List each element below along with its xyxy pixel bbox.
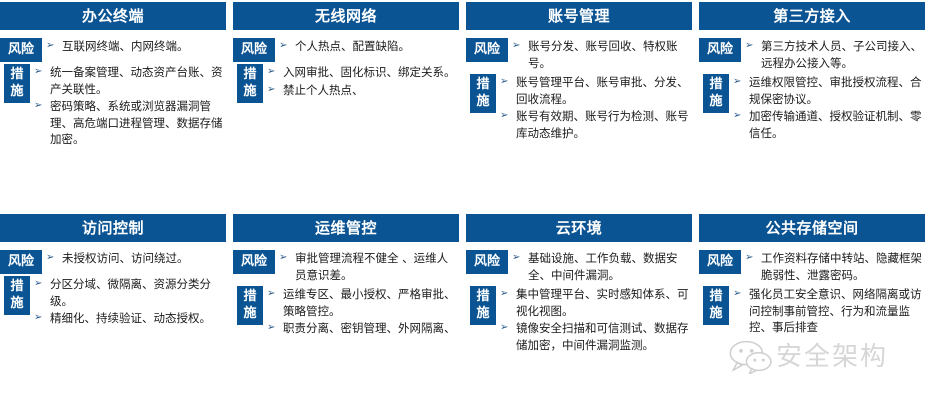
risk-badge: 风险	[0, 38, 42, 62]
measure-badge: 措 施	[237, 64, 263, 103]
measure-badge: 措 施	[703, 286, 729, 325]
list-item: ➢ 分区分域、微隔离、资源分类分级。	[34, 276, 226, 309]
arrow-bullet-icon: ➢	[500, 320, 516, 337]
card-body: 风险 ➢ 个人热点、配置缺陷。 措 施 ➢	[233, 30, 459, 198]
risk-bullet-list: ➢ 个人热点、配置缺陷。	[279, 38, 459, 56]
card-title: 访问控制	[0, 214, 226, 242]
measure-section: 措 施 ➢ 账号管理平台、账号审批、分发、回收流程。 ➢ 账号有效期、账号行为检…	[466, 74, 692, 142]
measure-bullet-list: ➢ 强化员工安全意识、网络隔离或访问控制事前管控、行为和流量监控、事后排查	[733, 286, 925, 337]
arrow-bullet-icon: ➢	[512, 38, 528, 55]
measure-section: 措 施 ➢ 运维专区、最小授权、严格审批、策略管控。 ➢ 职责分离、密钥管理、外…	[233, 286, 459, 338]
risk-badge: 风险	[466, 38, 508, 62]
arrow-bullet-icon: ➢	[500, 286, 516, 303]
risk-section: 风险 ➢ 工作资料存储中转站、隐藏框架脆弱性、泄露密码。	[699, 250, 925, 284]
risk-bullet-list: ➢ 工作资料存储中转站、隐藏框架脆弱性、泄露密码。	[745, 250, 925, 284]
list-item: ➢ 禁止个人热点、	[267, 82, 459, 99]
card-account-management: 账号管理 风险 ➢ 账号分发、账号回收、特权账号。 措 施	[466, 2, 692, 198]
arrow-bullet-icon: ➢	[733, 286, 749, 303]
arrow-bullet-icon: ➢	[34, 276, 50, 293]
measure-badge-line1: 措	[237, 66, 263, 83]
risk-badge: 风险	[466, 250, 508, 274]
measure-badge-line1: 措	[237, 288, 263, 305]
card-body: 风险 ➢ 未授权访问、访问绕过。 措 施 ➢	[0, 242, 226, 410]
risk-bullet-list: ➢ 审批管理流程不健全 、运维人员意识差。	[279, 250, 459, 284]
measure-badge: 措 施	[4, 276, 30, 315]
risk-badge: 风险	[233, 250, 275, 274]
measure-section: 措 施 ➢ 强化员工安全意识、网络隔离或访问控制事前管控、行为和流量监控、事后排…	[699, 286, 925, 337]
card-body: 风险 ➢ 审批管理流程不健全 、运维人员意识差。 措 施	[233, 242, 459, 410]
measure-badge-line2: 施	[4, 83, 30, 100]
risk-section: 风险 ➢ 互联网终端、内网终端。	[0, 38, 226, 62]
measure-section: 措 施 ➢ 运维权限管控、审批授权流程、合规保密协议。 ➢ 加密传输通道、授权验…	[699, 74, 925, 142]
measure-bullet-list: ➢ 运维专区、最小授权、严格审批、策略管控。 ➢ 职责分离、密钥管理、外网隔离、	[267, 286, 459, 338]
card-title: 办公终端	[0, 2, 226, 30]
card-body: 风险 ➢ 基础设施、工作负载、数据安全、中间件漏洞。 措 施	[466, 242, 692, 410]
measure-section: 措 施 ➢ 入网审批、固化标识、绑定关系。 ➢ 禁止个人热点、	[233, 64, 459, 103]
arrow-bullet-icon: ➢	[500, 74, 516, 91]
measure-badge-line1: 措	[470, 288, 496, 305]
measure-bullet-list: ➢ 统一备案管理、动态资产台账、资产关联性。 ➢ 密码策略、系统或浏览器漏洞管理…	[34, 64, 226, 149]
measure-badge: 措 施	[237, 286, 263, 325]
card-body: 风险 ➢ 账号分发、账号回收、特权账号。 措 施	[466, 30, 692, 198]
list-item: ➢ 加密传输通道、授权验证机制、零信任。	[733, 108, 925, 141]
measure-badge-line2: 施	[237, 305, 263, 322]
risk-section: 风险 ➢ 账号分发、账号回收、特权账号。	[466, 38, 692, 72]
card-third-party-access: 第三方接入 风险 ➢ 第三方技术人员、子公司接入、远程办公接入等。 措 施	[699, 2, 925, 198]
arrow-bullet-icon: ➢	[500, 108, 516, 125]
measure-badge-line2: 施	[470, 305, 496, 322]
measure-badge-line2: 施	[703, 93, 729, 110]
risk-badge: 风险	[233, 38, 275, 62]
arrow-bullet-icon: ➢	[745, 250, 761, 267]
measure-section: 措 施 ➢ 统一备案管理、动态资产台账、资产关联性。 ➢ 密码策略、系统或浏览器…	[0, 64, 226, 149]
list-item: ➢ 未授权访问、访问绕过。	[46, 250, 226, 267]
risk-badge: 风险	[699, 250, 741, 274]
risk-bullet-list: ➢ 账号分发、账号回收、特权账号。	[512, 38, 692, 72]
measure-badge-line2: 施	[470, 93, 496, 110]
arrow-bullet-icon: ➢	[267, 64, 283, 81]
list-item: ➢ 职责分离、密钥管理、外网隔离、	[267, 320, 459, 337]
list-item: ➢ 审批管理流程不健全 、运维人员意识差。	[279, 250, 459, 283]
arrow-bullet-icon: ➢	[46, 38, 62, 55]
arrow-bullet-icon: ➢	[267, 82, 283, 99]
list-item: ➢ 镜像安全扫描和可信测试、数据存储加密，中间件漏洞监测。	[500, 320, 692, 353]
card-access-control: 访问控制 风险 ➢ 未授权访问、访问绕过。 措 施	[0, 214, 226, 410]
list-item: ➢ 入网审批、固化标识、绑定关系。	[267, 64, 459, 81]
measure-badge: 措 施	[470, 74, 496, 113]
card-title: 运维管控	[233, 214, 459, 242]
list-item: ➢ 账号有效期、账号行为检测、账号库动态维护。	[500, 108, 692, 141]
list-item: ➢ 运维权限管控、审批授权流程、合规保密协议。	[733, 74, 925, 107]
card-public-storage: 公共存储空间 风险 ➢ 工作资料存储中转站、隐藏框架脆弱性、泄露密码。 措 施	[699, 214, 925, 410]
measure-bullet-list: ➢ 分区分域、微隔离、资源分类分级。 ➢ 精细化、持续验证、动态授权。	[34, 276, 226, 328]
measure-bullet-list: ➢ 入网审批、固化标识、绑定关系。 ➢ 禁止个人热点、	[267, 64, 459, 99]
list-item: ➢ 账号分发、账号回收、特权账号。	[512, 38, 692, 71]
card-title: 账号管理	[466, 2, 692, 30]
card-cloud-environment: 云环境 风险 ➢ 基础设施、工作负载、数据安全、中间件漏洞。 措 施	[466, 214, 692, 410]
arrow-bullet-icon: ➢	[279, 250, 295, 267]
measure-badge-line1: 措	[470, 76, 496, 93]
risk-section: 风险 ➢ 个人热点、配置缺陷。	[233, 38, 459, 62]
list-item: ➢ 精细化、持续验证、动态授权。	[34, 310, 226, 327]
arrow-bullet-icon: ➢	[34, 98, 50, 115]
arrow-bullet-icon: ➢	[733, 74, 749, 91]
card-body: 风险 ➢ 工作资料存储中转站、隐藏框架脆弱性、泄露密码。 措 施	[699, 242, 925, 410]
measure-badge-line1: 措	[703, 76, 729, 93]
list-item: ➢ 个人热点、配置缺陷。	[279, 38, 459, 55]
risk-badge: 风险	[0, 250, 42, 274]
card-body: 风险 ➢ 互联网终端、内网终端。 措 施 ➢	[0, 30, 226, 198]
measure-badge-line1: 措	[4, 278, 30, 295]
list-item: ➢ 账号管理平台、账号审批、分发、回收流程。	[500, 74, 692, 107]
arrow-bullet-icon: ➢	[267, 320, 283, 337]
measure-bullet-list: ➢ 账号管理平台、账号审批、分发、回收流程。 ➢ 账号有效期、账号行为检测、账号…	[500, 74, 692, 142]
list-item: ➢ 密码策略、系统或浏览器漏洞管理、高危端口进程管理、数据存储加密。	[34, 98, 226, 148]
measure-section: 措 施 ➢ 分区分域、微隔离、资源分类分级。 ➢ 精细化、持续验证、动态授权。	[0, 276, 226, 328]
list-item: ➢ 第三方技术人员、子公司接入、远程办公接入等。	[745, 38, 925, 71]
arrow-bullet-icon: ➢	[733, 108, 749, 125]
list-item: ➢ 集中管理平台、实时感知体系、可视化视图。	[500, 286, 692, 319]
measure-badge: 措 施	[703, 74, 729, 113]
measure-badge-line1: 措	[703, 288, 729, 305]
card-operations-control: 运维管控 风险 ➢ 审批管理流程不健全 、运维人员意识差。 措 施	[233, 214, 459, 410]
card-row-bottom: 访问控制 风险 ➢ 未授权访问、访问绕过。 措 施	[0, 214, 930, 410]
measure-badge: 措 施	[4, 64, 30, 103]
arrow-bullet-icon: ➢	[34, 64, 50, 81]
list-item: ➢ 统一备案管理、动态资产台账、资产关联性。	[34, 64, 226, 97]
list-item: ➢ 基础设施、工作负载、数据安全、中间件漏洞。	[512, 250, 692, 283]
measure-section: 措 施 ➢ 集中管理平台、实时感知体系、可视化视图。 ➢ 镜像安全扫描和可信测试…	[466, 286, 692, 354]
risk-section: 风险 ➢ 审批管理流程不健全 、运维人员意识差。	[233, 250, 459, 284]
risk-badge: 风险	[699, 38, 741, 62]
risk-bullet-list: ➢ 基础设施、工作负载、数据安全、中间件漏洞。	[512, 250, 692, 284]
card-title: 第三方接入	[699, 2, 925, 30]
risk-measure-board: 办公终端 风险 ➢ 互联网终端、内网终端。 措 施	[0, 0, 930, 402]
measure-bullet-list: ➢ 运维权限管控、审批授权流程、合规保密协议。 ➢ 加密传输通道、授权验证机制、…	[733, 74, 925, 142]
card-row-top: 办公终端 风险 ➢ 互联网终端、内网终端。 措 施	[0, 2, 930, 198]
arrow-bullet-icon: ➢	[279, 38, 295, 55]
measure-badge-line2: 施	[703, 305, 729, 322]
arrow-bullet-icon: ➢	[46, 250, 62, 267]
measure-badge-line1: 措	[4, 66, 30, 83]
card-title: 无线网络	[233, 2, 459, 30]
list-item: ➢ 工作资料存储中转站、隐藏框架脆弱性、泄露密码。	[745, 250, 925, 283]
arrow-bullet-icon: ➢	[512, 250, 528, 267]
risk-section: 风险 ➢ 第三方技术人员、子公司接入、远程办公接入等。	[699, 38, 925, 72]
risk-section: 风险 ➢ 未授权访问、访问绕过。	[0, 250, 226, 274]
arrow-bullet-icon: ➢	[745, 38, 761, 55]
list-item: ➢ 强化员工安全意识、网络隔离或访问控制事前管控、行为和流量监控、事后排查	[733, 286, 925, 336]
card-title: 公共存储空间	[699, 214, 925, 242]
measure-badge: 措 施	[470, 286, 496, 325]
measure-bullet-list: ➢ 集中管理平台、实时感知体系、可视化视图。 ➢ 镜像安全扫描和可信测试、数据存…	[500, 286, 692, 354]
card-title: 云环境	[466, 214, 692, 242]
measure-badge-line2: 施	[4, 295, 30, 312]
measure-badge-line2: 施	[237, 83, 263, 100]
arrow-bullet-icon: ➢	[34, 310, 50, 327]
card-wireless-network: 无线网络 风险 ➢ 个人热点、配置缺陷。 措 施	[233, 2, 459, 198]
card-body: 风险 ➢ 第三方技术人员、子公司接入、远程办公接入等。 措 施	[699, 30, 925, 198]
list-item: ➢ 运维专区、最小授权、严格审批、策略管控。	[267, 286, 459, 319]
risk-bullet-list: ➢ 未授权访问、访问绕过。	[46, 250, 226, 268]
risk-bullet-list: ➢ 互联网终端、内网终端。	[46, 38, 226, 56]
list-item: ➢ 互联网终端、内网终端。	[46, 38, 226, 55]
card-office-terminal: 办公终端 风险 ➢ 互联网终端、内网终端。 措 施	[0, 2, 226, 198]
arrow-bullet-icon: ➢	[267, 286, 283, 303]
risk-bullet-list: ➢ 第三方技术人员、子公司接入、远程办公接入等。	[745, 38, 925, 72]
risk-section: 风险 ➢ 基础设施、工作负载、数据安全、中间件漏洞。	[466, 250, 692, 284]
